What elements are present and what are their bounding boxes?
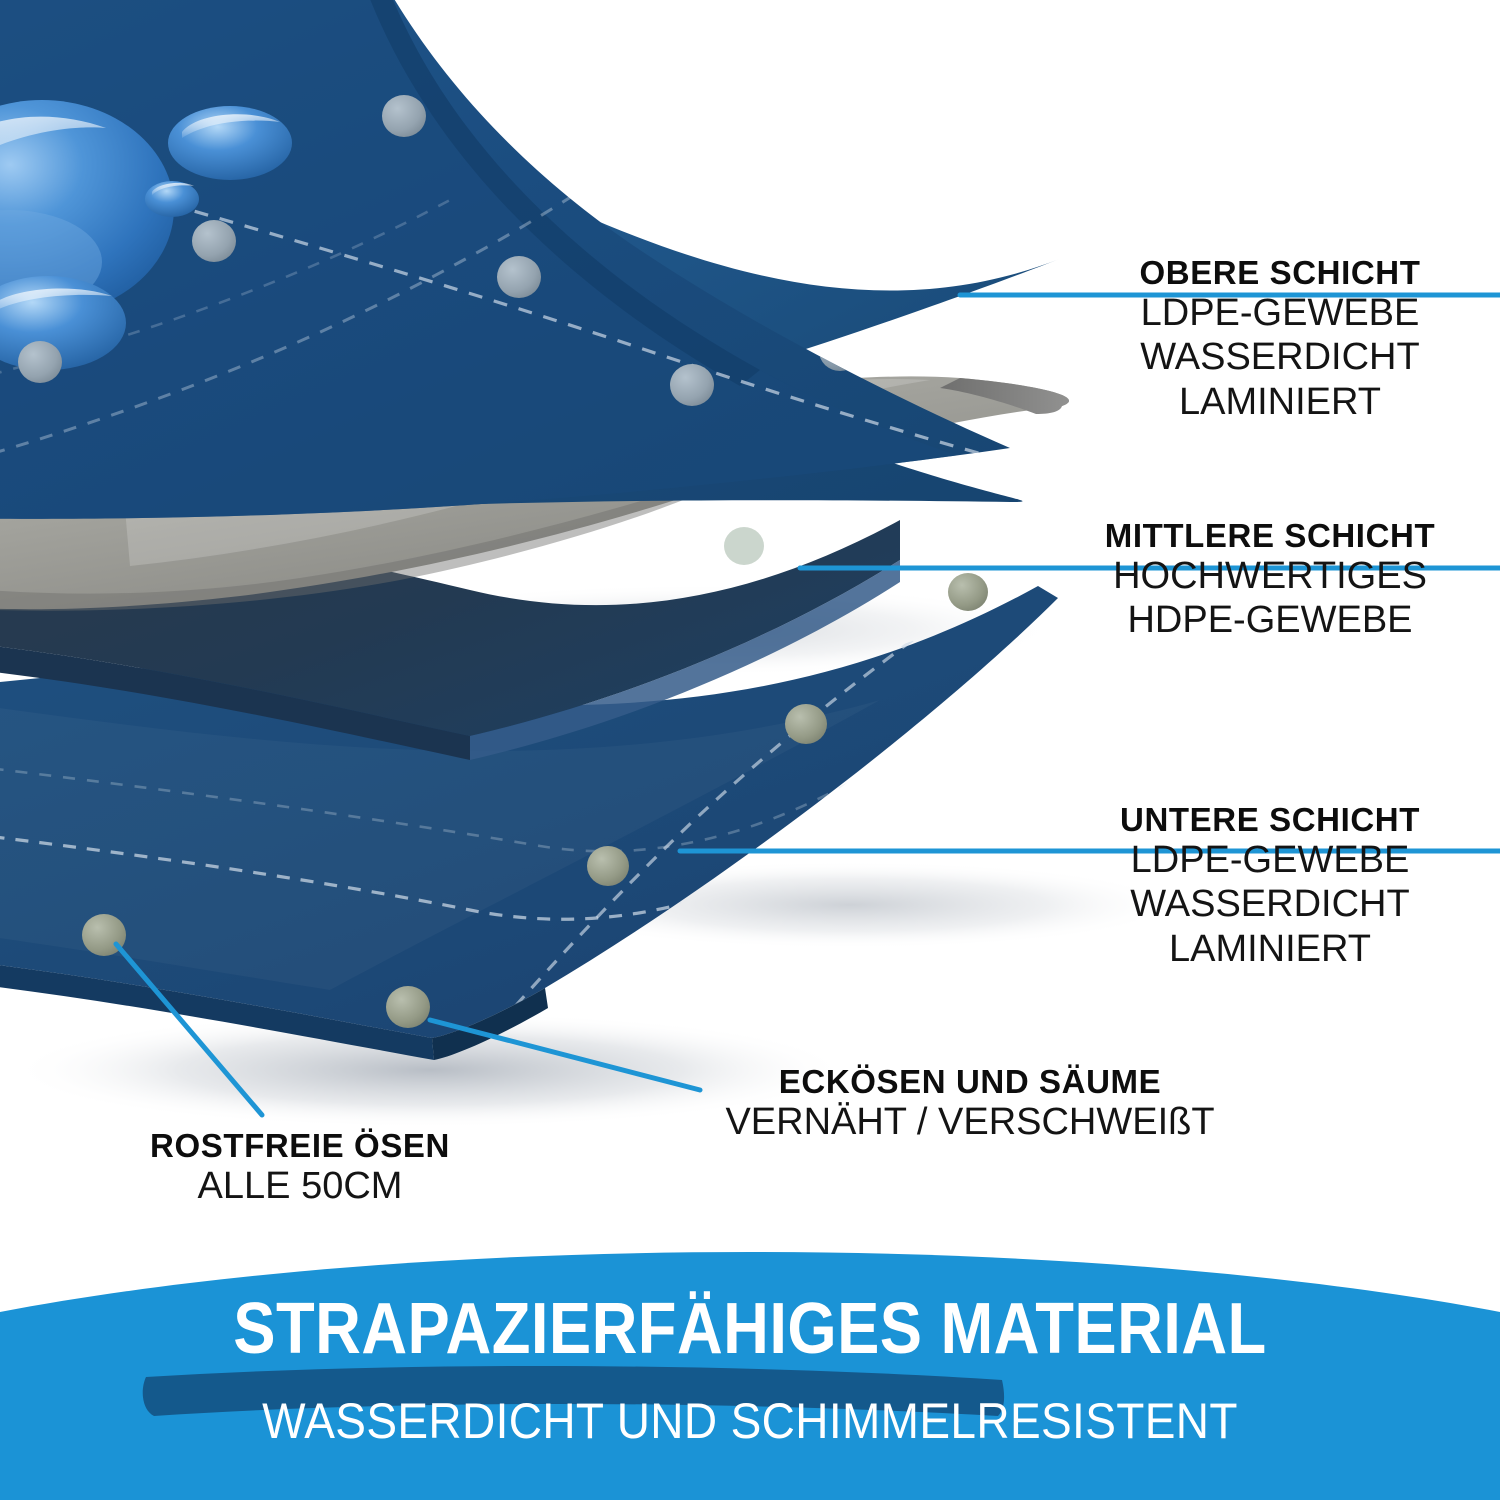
layer-line: WASSERDICHT <box>1040 882 1500 927</box>
callout-untere-schicht: UNTERE SCHICHT LDPE-GEWEBE WASSERDICHT L… <box>1040 803 1500 972</box>
layer-title-bottom: UNTERE SCHICHT <box>1040 803 1500 838</box>
layer-title-top: OBERE SCHICHT <box>1060 256 1500 291</box>
layer-line: LAMINIERT <box>1040 927 1500 972</box>
callout-rostfreie-oesen: ROSTFREIE ÖSEN ALLE 50CM <box>30 1129 570 1208</box>
banner-text-group: STRAPAZIERFÄHIGES MATERIAL WASSERDICHT U… <box>0 1240 1500 1500</box>
feature-line: VERNÄHT / VERSCHWEIßT <box>640 1100 1300 1145</box>
layer-line: HOCHWERTIGES <box>1040 554 1500 599</box>
callout-mittlere-schicht: MITTLERE SCHICHT HOCHWERTIGES HDPE-GEWEB… <box>1040 519 1500 643</box>
layer-line: LDPE-GEWEBE <box>1060 291 1500 336</box>
feature-title-eyelets: ROSTFREIE ÖSEN <box>30 1129 570 1164</box>
top-tarp-layer <box>0 0 1140 580</box>
layer-line: HDPE-GEWEBE <box>1040 598 1500 643</box>
bottom-banner: STRAPAZIERFÄHIGES MATERIAL WASSERDICHT U… <box>0 1240 1500 1500</box>
layer-line: LAMINIERT <box>1060 380 1500 425</box>
banner-headline: STRAPAZIERFÄHIGES MATERIAL <box>90 1288 1410 1370</box>
infographic-root: OBERE SCHICHT LDPE-GEWEBE WASSERDICHT LA… <box>0 0 1500 1500</box>
callout-eckoesen-und-saeume: ECKÖSEN UND SÄUME VERNÄHT / VERSCHWEIßT <box>640 1065 1300 1144</box>
layer-line: WASSERDICHT <box>1060 335 1500 380</box>
feature-line: ALLE 50CM <box>30 1164 570 1209</box>
layer-line: LDPE-GEWEBE <box>1040 838 1500 883</box>
feature-title-corners: ECKÖSEN UND SÄUME <box>640 1065 1300 1100</box>
banner-subline: WASSERDICHT UND SCHIMMELRESISTENT <box>60 1392 1440 1450</box>
callout-obere-schicht: OBERE SCHICHT LDPE-GEWEBE WASSERDICHT LA… <box>1060 256 1500 425</box>
layer-title-middle: MITTLERE SCHICHT <box>1040 519 1500 554</box>
